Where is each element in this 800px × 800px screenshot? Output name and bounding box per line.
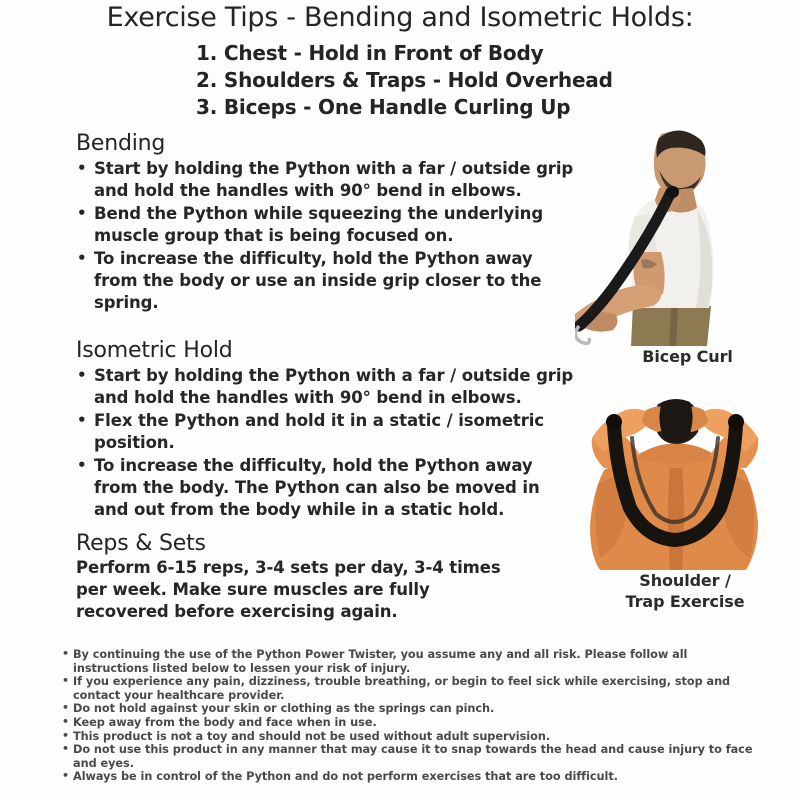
list-item: To increase the difficulty, hold the Pyt… [76, 455, 576, 521]
list-item: Flex the Python and hold it in a static … [76, 410, 576, 454]
photo-caption-shoulder-trap-line2: Trap Exercise [570, 591, 800, 612]
section-bending: Bending Start by holding the Python with… [76, 131, 576, 314]
shoulder-trap-illustration [570, 398, 800, 570]
poster-sheet: Exercise Tips - Bending and Isometric Ho… [0, 0, 800, 800]
bicep-curl-illustration [575, 118, 800, 346]
list-item: Bend the Python while squeezing the unde… [76, 203, 576, 247]
disclaimer-item: Always be in control of the Python and d… [62, 770, 762, 784]
reps-paragraph: Perform 6-15 reps, 3-4 sets per day, 3-4… [76, 557, 516, 623]
disclaimer-list: By continuing the use of the Python Powe… [62, 648, 762, 784]
photo-block-bicep-curl: Bicep Curl [575, 118, 800, 367]
disclaimer-item: Do not use this product in any manner th… [62, 743, 762, 770]
list-item: Start by holding the Python with a far /… [76, 158, 576, 202]
section-reps-and-sets: Reps & Sets Perform 6-15 reps, 3-4 sets … [76, 531, 576, 623]
bicep-curl-photo [575, 118, 800, 346]
isometric-bullet-list: Start by holding the Python with a far /… [76, 365, 576, 521]
numbered-item: 2. Shoulders & Traps - Hold Overhead [196, 67, 666, 94]
section-heading-bending: Bending [76, 131, 576, 157]
disclaimer-item: This product is not a toy and should not… [62, 730, 762, 744]
numbered-tips-list: 1. Chest - Hold in Front of Body 2. Shou… [196, 40, 666, 121]
page-title: Exercise Tips - Bending and Isometric Ho… [0, 2, 800, 33]
list-item: Start by holding the Python with a far /… [76, 365, 576, 409]
section-isometric-hold: Isometric Hold Start by holding the Pyth… [76, 338, 576, 521]
disclaimer-item: By continuing the use of the Python Powe… [62, 648, 762, 675]
list-item: To increase the difficulty, hold the Pyt… [76, 248, 576, 314]
section-heading-isometric-hold: Isometric Hold [76, 338, 576, 364]
numbered-item: 1. Chest - Hold in Front of Body [196, 40, 666, 67]
photo-caption-shoulder-trap-line1: Shoulder / [570, 570, 800, 591]
photo-block-shoulder-trap: Shoulder / Trap Exercise [570, 398, 800, 612]
section-heading-reps-and-sets: Reps & Sets [76, 531, 576, 557]
bending-bullet-list: Start by holding the Python with a far /… [76, 158, 576, 314]
numbered-item: 3. Biceps - One Handle Curling Up [196, 94, 666, 121]
disclaimer-item: If you experience any pain, dizziness, t… [62, 675, 762, 702]
photo-caption-bicep-curl: Bicep Curl [575, 346, 800, 367]
disclaimer-item: Do not hold against your skin or clothin… [62, 702, 762, 716]
shoulder-trap-photo [570, 398, 800, 570]
disclaimer-item: Keep away from the body and face when in… [62, 716, 762, 730]
